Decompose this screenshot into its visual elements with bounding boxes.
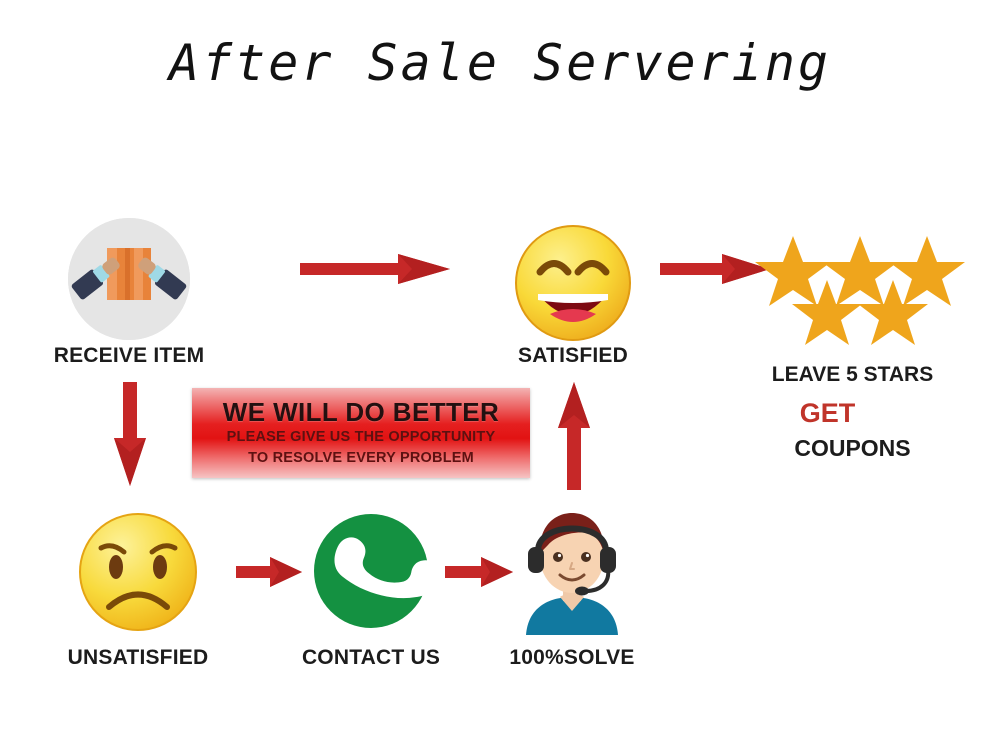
support-agent-icon: [512, 505, 632, 635]
phone-icon: [312, 512, 430, 630]
node-label-unsatisfied: UNSATISFIED: [38, 646, 238, 670]
banner-line-3: TO RESOLVE EVERY PROBLEM: [248, 448, 474, 469]
package-in-hands-icon: [68, 218, 190, 340]
laughing-face-icon: [514, 224, 632, 342]
arrow-satisfied-to-stars: [660, 252, 770, 286]
node-label-receive-item: RECEIVE ITEM: [28, 344, 230, 368]
node-label-contact-us: CONTACT US: [271, 646, 471, 670]
leave-5-stars-text: LEAVE 5 STARS: [745, 363, 960, 387]
sad-face-icon: [78, 512, 198, 632]
coupons-text: COUPONS: [745, 435, 960, 462]
arrow-receive-to-satisfied: [300, 252, 450, 286]
arrow-receive-to-unsatisfied: [112, 382, 148, 486]
arrow-unsatisfied-to-contact: [236, 556, 302, 588]
arrow-solve-to-satisfied: [556, 382, 592, 490]
banner-headline: WE WILL DO BETTER: [223, 397, 499, 427]
node-label-satisfied: SATISFIED: [473, 344, 673, 368]
arrow-contact-to-solve: [445, 556, 513, 588]
we-will-do-better-banner: WE WILL DO BETTER PLEASE GIVE US THE OPP…: [192, 388, 530, 478]
banner-line-2: PLEASE GIVE US THE OPPORTUNITY: [227, 427, 496, 448]
page-title: After Sale Servering: [0, 34, 1000, 92]
five-stars-icon: [755, 232, 965, 348]
after-sale-service-infographic: After Sale Servering RECEIVE ITEM: [0, 0, 1000, 750]
node-label-solve: 100%SOLVE: [472, 646, 672, 670]
get-text: GET: [745, 398, 910, 429]
